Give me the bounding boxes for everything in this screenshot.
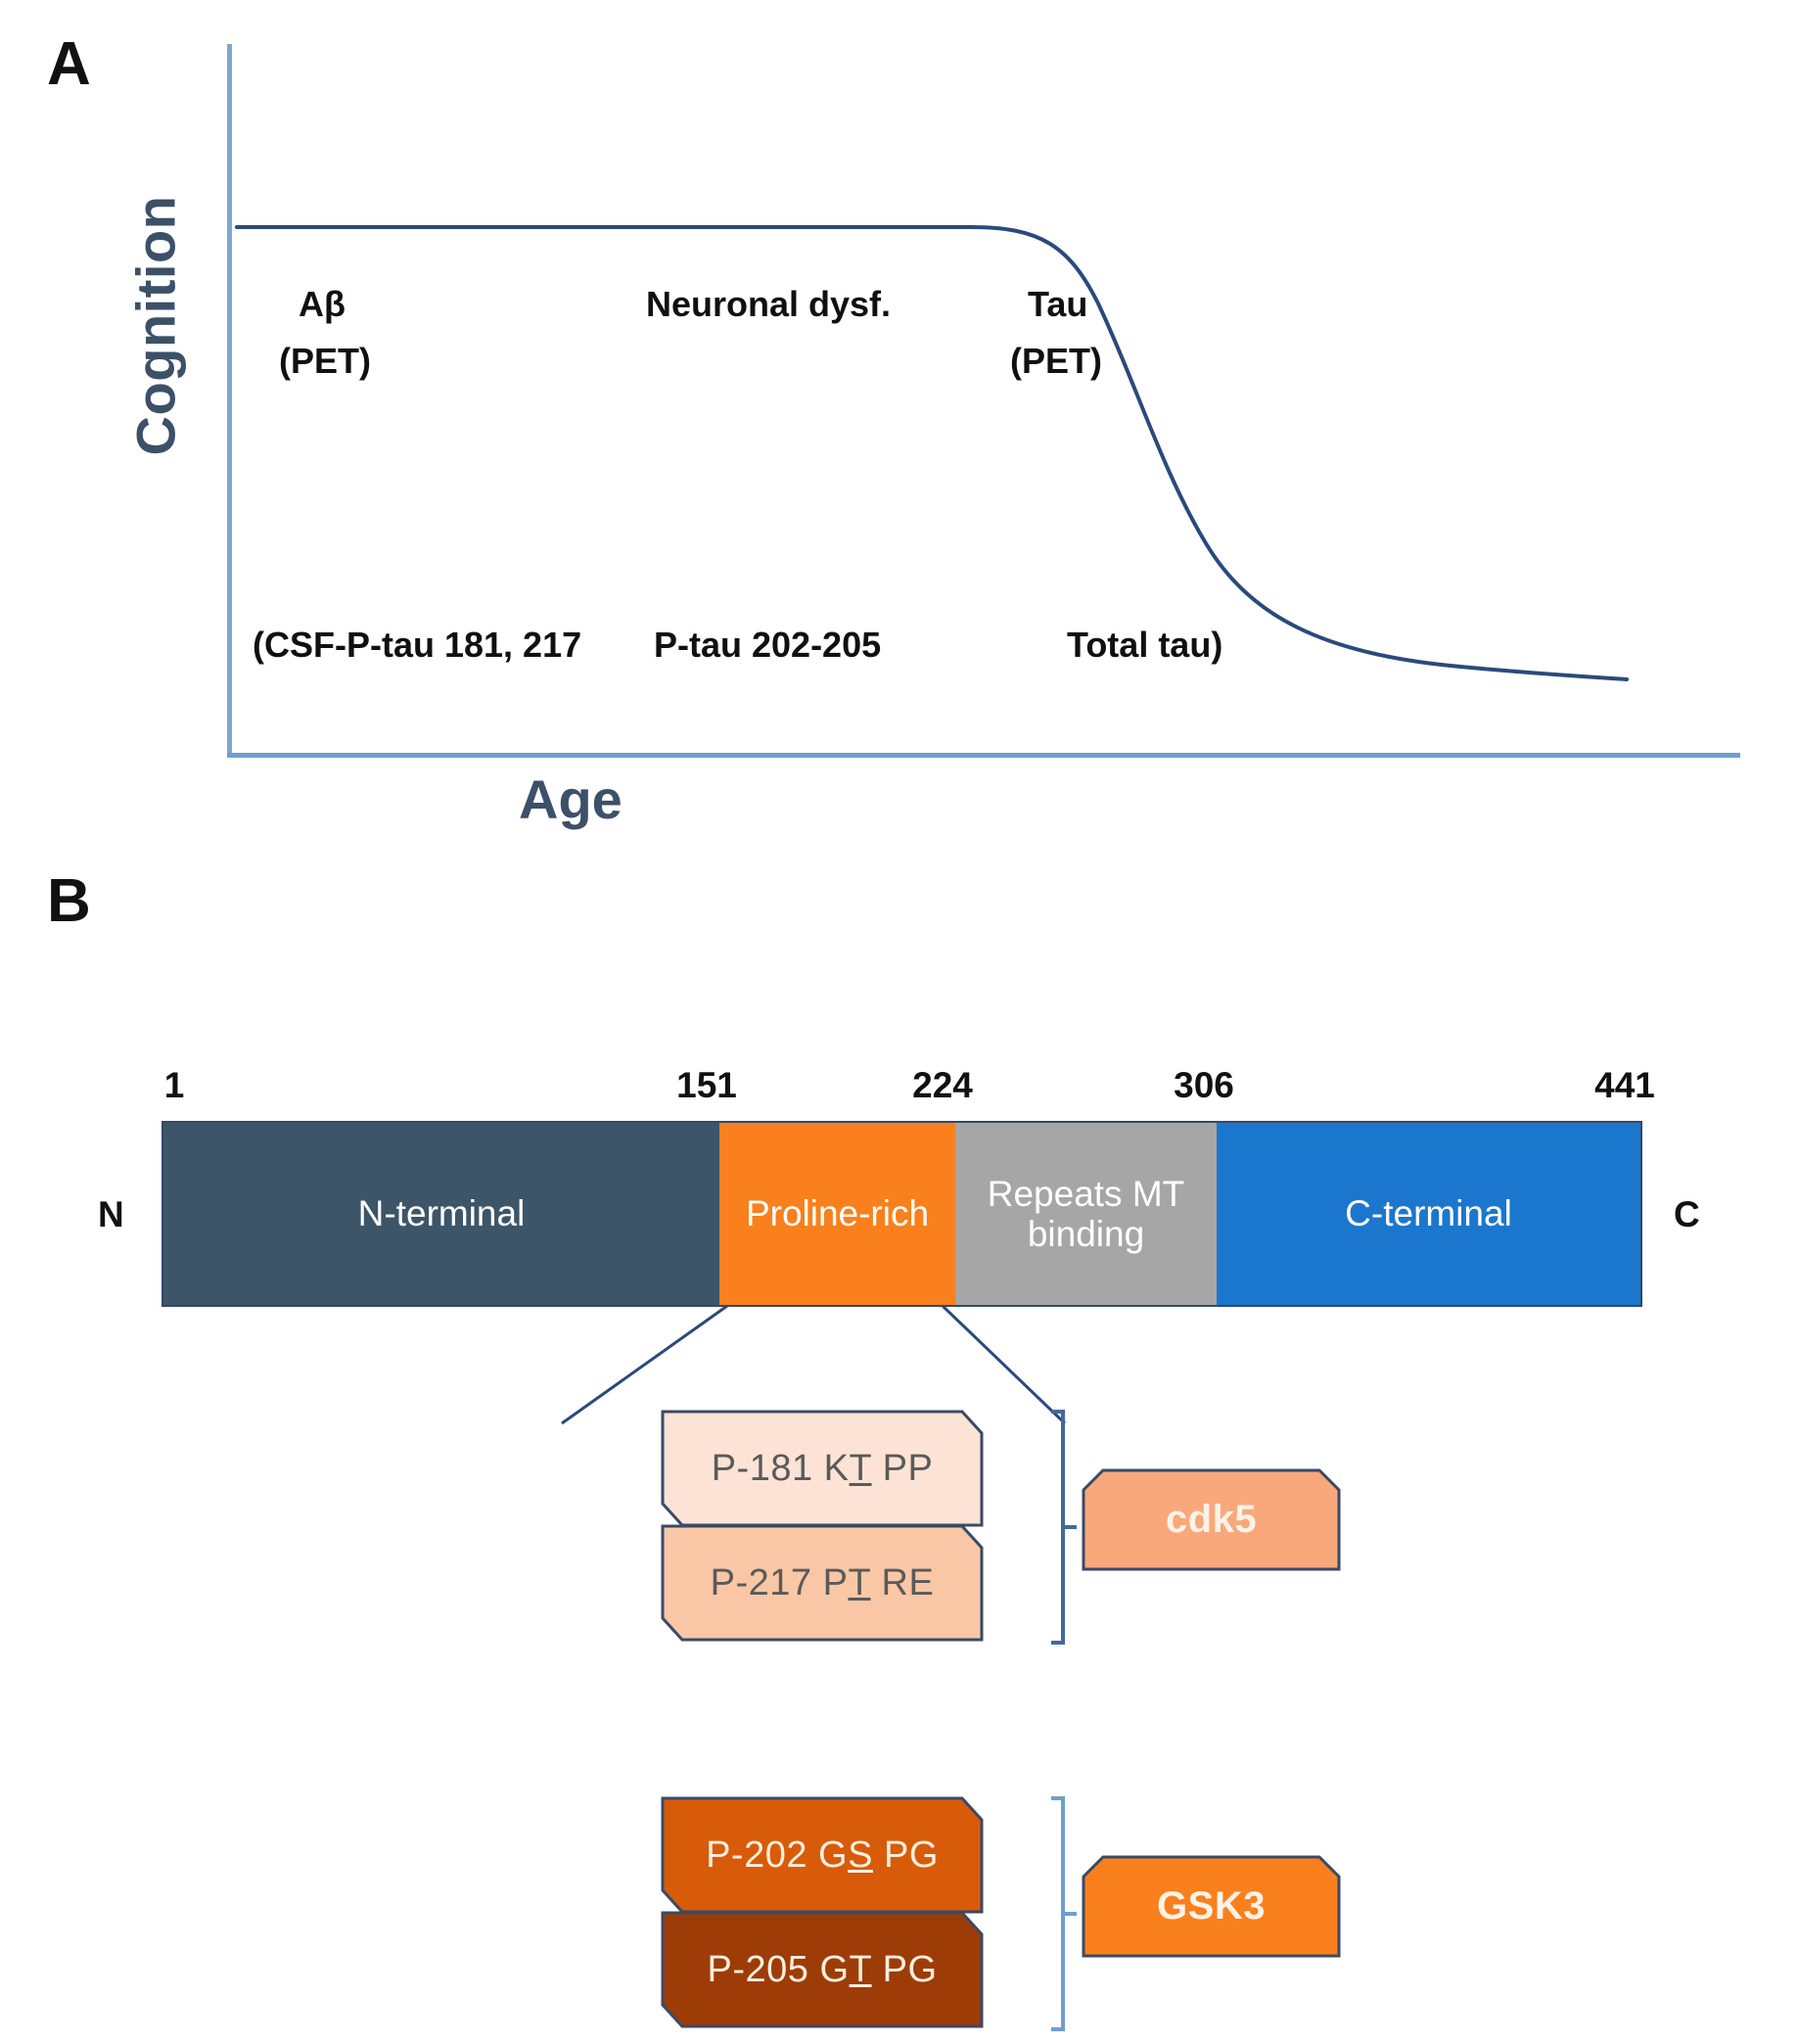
tau-domain-bar: N-terminal Proline-rich Repeats MT bindi… (161, 1121, 1642, 1307)
residue-tick-441: 441 (1594, 1065, 1655, 1106)
phospho-site-p-202-label: P-202 GS PG (706, 1835, 939, 1877)
annotation-csf-p-tau-181-217: (CSF-P-tau 181, 217 (253, 625, 581, 666)
domain-repeats-mt-binding-label-line2: binding (1028, 1214, 1144, 1254)
domain-proline-rich-label: Proline-rich (746, 1193, 929, 1233)
residue-tick-151: 151 (676, 1065, 737, 1106)
residue-tick-1: 1 (164, 1065, 185, 1106)
annotation-p-tau-202-205: P-tau 202-205 (654, 625, 881, 666)
domain-n-terminal-label: N-terminal (358, 1193, 526, 1233)
phospho-site-p-205[interactable]: P-205 GT PG (661, 1911, 984, 2028)
annotation-neuronal-dysf: Neuronal dysf. (646, 284, 891, 325)
panel-b: B 1 151 224 306 441 N C N-terminal Proli… (0, 881, 1798, 2044)
domain-c-terminal[interactable]: C-terminal (1217, 1121, 1642, 1307)
annotation-abeta-line2: (PET) (279, 341, 371, 382)
kinase-gsk3[interactable]: GSK3 (1082, 1855, 1341, 1958)
phospho-site-p-205-label: P-205 GT PG (707, 1949, 937, 1991)
domain-repeats-mt-binding-label-line1: Repeats MT (988, 1174, 1185, 1214)
bracket-gsk3-group (1045, 1796, 1084, 2031)
kinase-cdk5-label: cdk5 (1166, 1498, 1257, 1542)
phospho-site-p-217[interactable]: P-217 PT RE (661, 1524, 984, 1642)
annotation-tau-line1: Tau (1028, 284, 1087, 325)
y-axis-label: Cognition (124, 164, 188, 488)
panel-a-letter: A (47, 29, 91, 99)
kinase-gsk3-label: GSK3 (1157, 1884, 1266, 1928)
domain-proline-rich[interactable]: Proline-rich (719, 1121, 955, 1307)
c-terminus-label: C (1674, 1194, 1700, 1235)
panel-b-letter: B (47, 866, 91, 936)
x-axis-line (227, 753, 1740, 758)
residue-tick-224: 224 (912, 1065, 973, 1106)
annotation-tau-line2: (PET) (1010, 341, 1102, 382)
annotation-total-tau: Total tau) (1067, 625, 1222, 666)
x-axis-label: Age (519, 767, 622, 831)
n-terminus-label: N (98, 1194, 124, 1235)
annotation-abeta-line1: Aβ (299, 284, 346, 325)
panel-a: A Cognition Age Aβ (PET) Neuronal dysf. … (0, 0, 1798, 881)
domain-repeats-mt-binding[interactable]: Repeats MT binding (955, 1121, 1217, 1307)
phospho-site-p-217-label: P-217 PT RE (711, 1562, 935, 1604)
phospho-site-p-202[interactable]: P-202 GS PG (661, 1796, 984, 1914)
kinase-cdk5[interactable]: cdk5 (1082, 1468, 1341, 1571)
residue-tick-306: 306 (1174, 1065, 1234, 1106)
phospho-site-p-181-label: P-181 KT PP (712, 1448, 934, 1490)
bracket-cdk5-group (1045, 1410, 1084, 1645)
domain-c-terminal-label: C-terminal (1345, 1193, 1512, 1233)
domain-n-terminal[interactable]: N-terminal (161, 1121, 719, 1307)
phospho-site-p-181[interactable]: P-181 KT PP (661, 1410, 984, 1527)
